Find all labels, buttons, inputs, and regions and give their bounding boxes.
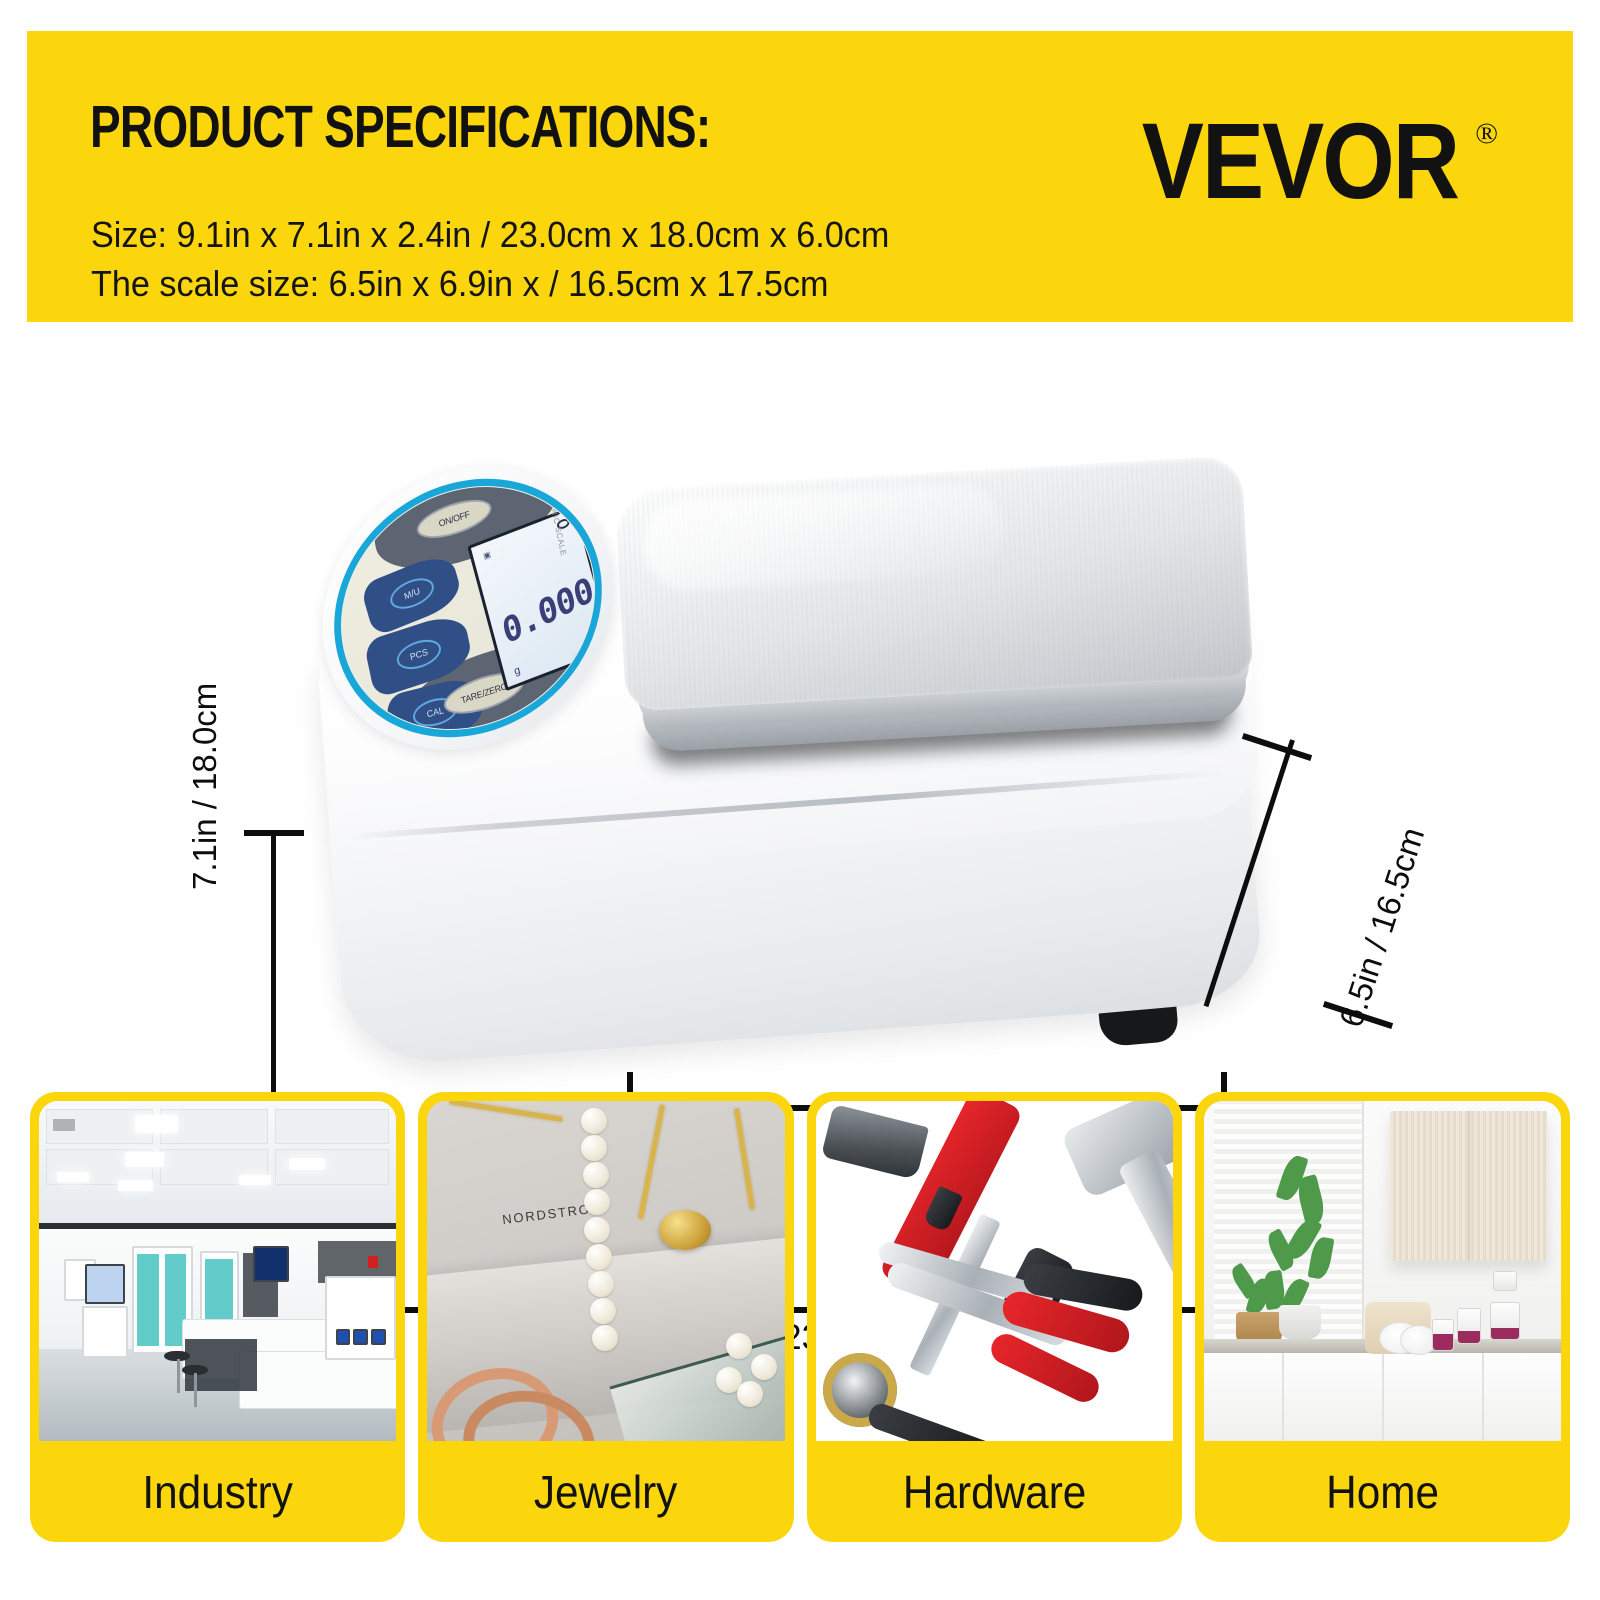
kitchen-wall-cabinet: [1390, 1111, 1547, 1261]
storage-jar-3: [1490, 1302, 1520, 1340]
kitchen-scene: [1204, 1101, 1561, 1441]
product-spec-page: PRODUCT SPECIFICATIONS: Size: 9.1in x 7.…: [0, 0, 1600, 1600]
plant-pot-white: [1279, 1305, 1321, 1339]
industry-photo: [39, 1101, 396, 1441]
category-label-jewelry: Jewelry: [442, 1441, 771, 1542]
platform-depth-label: 6.5in / 16.5cm: [1332, 823, 1432, 1032]
jewelry-photo: NORDSTROM: [427, 1101, 784, 1441]
category-card-hardware[interactable]: Hardware: [807, 1092, 1182, 1542]
spec-line-scale-size: The scale size: 6.5in x 6.9in x / 16.5cm…: [91, 263, 829, 305]
category-card-home[interactable]: Home: [1195, 1092, 1570, 1542]
page-title: PRODUCT SPECIFICATIONS:: [90, 93, 710, 161]
hardware-scene: [816, 1101, 1173, 1441]
kitchen-base-cabinets: [1204, 1353, 1561, 1441]
category-label-industry: Industry: [53, 1441, 382, 1542]
platform-highlight: [641, 483, 1005, 593]
platform-depth-line: [1204, 739, 1295, 1007]
lcd-weight-value: 0.000: [493, 554, 602, 668]
scale-rubber-foot: [1099, 1007, 1180, 1048]
storage-jar-2: [1457, 1308, 1481, 1344]
product-hero: ON/OFF M/U PCS CAL TARE/ZERO ▣ 0.000: [0, 330, 1600, 1090]
wrench-handle: [1118, 1147, 1173, 1300]
platform-surface: [614, 455, 1253, 712]
mode-unit-label: M/U: [387, 572, 437, 614]
category-card-jewelry[interactable]: NORDSTROM: [418, 1092, 793, 1542]
application-category-cards: Industry NORDSTROM: [30, 1092, 1570, 1542]
electronic-scale-product-image: ON/OFF M/U PCS CAL TARE/ZERO ▣ 0.000: [300, 450, 1250, 950]
ratchet-handle: [865, 1400, 996, 1441]
platform-depth-dimension: 6.5in / 16.5cm: [1204, 732, 1474, 1032]
category-label-home: Home: [1218, 1441, 1547, 1542]
height-dimension-cap-top: [244, 830, 304, 836]
stainless-weighing-platform: [614, 454, 1270, 789]
storage-jar-4: [1493, 1271, 1517, 1291]
lab-ceiling: [39, 1101, 396, 1229]
jewelry-scene: NORDSTROM: [427, 1101, 784, 1441]
category-label-hardware: Hardware: [830, 1441, 1159, 1542]
vevor-logo: VEVOR: [1142, 100, 1458, 223]
specifications-banner: PRODUCT SPECIFICATIONS: Size: 9.1in x 7.…: [27, 31, 1573, 322]
registered-trademark-icon: ®: [1475, 117, 1498, 151]
category-card-industry[interactable]: Industry: [30, 1092, 405, 1542]
pcs-label: PCS: [394, 635, 443, 675]
lcd-unit-label: g: [513, 664, 522, 678]
home-photo: [1204, 1101, 1561, 1441]
spec-line-size: Size: 9.1in x 7.1in x 2.4in / 23.0cm x 1…: [91, 214, 889, 256]
lab-scene: [39, 1101, 396, 1441]
hardware-photo: [816, 1101, 1173, 1441]
lcd-stable-indicator-icon: ▣: [482, 550, 491, 561]
platform-depth-cap-top: [1242, 733, 1312, 761]
height-dimension-label: 7.1in / 18.0cm: [186, 683, 224, 890]
storage-jar-1: [1432, 1319, 1454, 1351]
hammer-head-icon: [821, 1104, 929, 1180]
